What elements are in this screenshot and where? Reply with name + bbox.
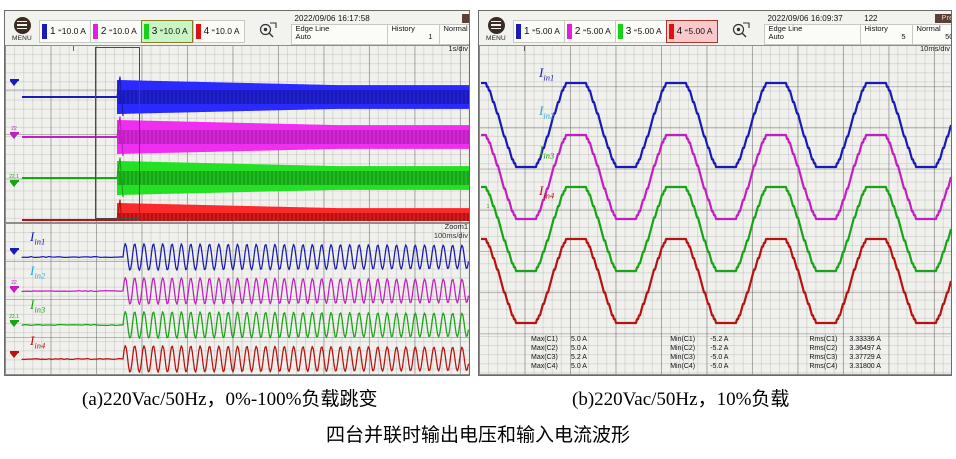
trigger-status-b[interactable]: Edge Line Auto <box>765 25 861 44</box>
datetime-a: 2022/09/06 16:17:58 <box>291 14 376 23</box>
meas-value: -5.2 A <box>710 336 728 345</box>
meas-value: 5.0 A <box>571 345 587 354</box>
channel-scale-b-2: 5.00 A <box>587 27 611 36</box>
history-label-a: History <box>392 25 433 33</box>
meas-key: Min(C4) <box>670 363 710 372</box>
channel-scale-a-3: 10.0 A <box>164 27 188 36</box>
acquire-status-b[interactable]: Normal 50MS/s <box>913 25 953 44</box>
channel-number-a-3: 3 <box>152 26 158 37</box>
trigger-mode-b: Auto <box>769 33 856 41</box>
wave-label-b-3: Iin3 <box>539 143 554 161</box>
meas-value: 3.33336 A <box>849 336 881 345</box>
wave-label-b-2: Iin2 <box>539 103 554 121</box>
hamburger-menu-icon-b <box>488 17 505 34</box>
channel-number-b-3: 3 <box>626 26 632 37</box>
meas-value: 5.2 A <box>571 354 587 363</box>
measurement-row-min-2: Min(C2) -5.2 A <box>670 345 809 354</box>
datetime-b: 2022/09/06 16:09:37 <box>764 14 849 23</box>
measurement-row-max-4: Max(C4) 5.0 A <box>531 363 670 372</box>
magnifier-zoom-icon <box>258 21 278 39</box>
channel-scale-b-3: 5.00 A <box>638 27 662 36</box>
channel-color-swatch-b4 <box>669 24 674 39</box>
channel-number-a-1: 1 <box>50 26 56 37</box>
channel-button-b-4[interactable]: 4 ≖ 5.00 A <box>666 20 718 43</box>
channel-number-a-2: 2 <box>101 26 107 37</box>
measurement-row-min-3: Min(C3) -5.0 A <box>670 354 809 363</box>
meas-key: Rms(C2) <box>809 345 849 354</box>
measurement-column-min: Min(C1) -5.2 A Min(C2) -5.2 A Min(C3) -5… <box>670 336 809 372</box>
meas-key: Max(C3) <box>531 354 571 363</box>
history-label-b: History <box>865 25 906 33</box>
channel-number-b-2: 2 <box>575 26 581 37</box>
caption-b: (b)220Vac/50Hz，10%负载 <box>572 384 789 411</box>
meas-key: Rms(C1) <box>809 336 849 345</box>
trigger-status-a[interactable]: Edge Line Auto <box>292 25 388 44</box>
wave-label-b-1: Iin1 <box>539 65 554 83</box>
plot-area-b[interactable]: T 10ms/div 1 Iin1 Iin2 Iin3 Iin4 <box>479 45 952 375</box>
channel-button-a-2[interactable]: 2 ≖ 10.0 A <box>90 20 141 43</box>
meas-key: Min(C1) <box>670 336 710 345</box>
measurement-row-min-4: Min(C4) -5.0 A <box>670 363 809 372</box>
channel-number-b-1: 1 <box>524 26 530 37</box>
frame-count-b: 122 <box>849 14 893 23</box>
channel-color-swatch-2 <box>93 24 98 39</box>
wave-label-a-4: Iin4 <box>30 333 45 351</box>
meas-value: -5.2 A <box>710 345 728 354</box>
meas-value: 5.0 A <box>571 336 587 345</box>
channel-button-a-3[interactable]: 3 ≖ 10.0 A <box>141 20 193 43</box>
measurement-row-min-1: Min(C1) -5.2 A <box>670 336 809 345</box>
caption-main: 四台并联时输出电压和输入电流波形 <box>0 420 956 447</box>
channel-color-swatch-b1 <box>516 24 521 39</box>
channel-button-b-1[interactable]: 1 ≖ 5.00 A <box>513 20 564 43</box>
channel-color-swatch-b2 <box>567 24 572 39</box>
scope-b-info-topline: 2022/09/06 16:09:37 122 Preview <box>764 12 953 24</box>
meas-value: -5.0 A <box>710 363 728 372</box>
channel-scale-a-4: 10.0 A <box>215 27 239 36</box>
channel-color-swatch-1 <box>42 24 47 39</box>
zoom-tool-button-a[interactable] <box>245 11 291 45</box>
figure-root: MENU 1 ≖ 10.0 A 2 ≖ 10.0 A 3 <box>0 0 956 459</box>
scope-b-info-block: 2022/09/06 16:09:37 122 Preview Edge Lin… <box>764 11 953 45</box>
meas-key: Max(C2) <box>531 345 571 354</box>
channel-scale-b-4: 5.00 A <box>688 27 712 36</box>
menu-label-a: MENU <box>12 35 32 42</box>
plot-area-a-zoom[interactable]: 22 22.1 Zoom1 100ms/div <box>5 223 470 375</box>
meas-key: Max(C1) <box>531 336 571 345</box>
meas-key: Rms(C4) <box>809 363 849 372</box>
scope-a-status-row: Edge Line Auto History 1 Normal 500kS/s <box>291 24 471 45</box>
meas-key: Min(C2) <box>670 345 710 354</box>
meas-value: 3.31800 A <box>849 363 881 372</box>
sample-rate-a: 500kS/s <box>444 33 471 41</box>
channel-button-a-1[interactable]: 1 ≖ 10.0 A <box>39 20 90 43</box>
menu-button-a[interactable]: MENU <box>5 11 39 45</box>
channel-scale-a-2: 10.0 A <box>113 27 137 36</box>
magnifier-zoom-icon-b <box>731 21 751 39</box>
menu-label-b: MENU <box>486 35 506 42</box>
zoom-region-box-a[interactable] <box>95 47 140 219</box>
scope-b-status-row: Edge Line Auto History 5 Normal 50MS/s <box>764 24 953 45</box>
measurement-row-rms-2: Rms(C2) 3.36497 A <box>809 345 948 354</box>
wave-label-b-4: Iin4 <box>539 183 554 201</box>
history-status-a[interactable]: History 1 <box>388 25 440 44</box>
channel-button-b-3[interactable]: 3 ≖ 5.00 A <box>615 20 666 43</box>
oscilloscope-screenshot-a: MENU 1 ≖ 10.0 A 2 ≖ 10.0 A 3 <box>4 10 470 376</box>
meas-key: Rms(C3) <box>809 354 849 363</box>
history-value-b: 5 <box>865 33 906 41</box>
meas-value: 3.37729 A <box>849 354 881 363</box>
caption-a: (a)220Vac/50Hz，0%-100%负载跳变 <box>82 384 377 411</box>
measurement-row-max-2: Max(C2) 5.0 A <box>531 345 670 354</box>
acquire-status-a[interactable]: Normal 500kS/s <box>440 25 471 44</box>
preview-badge-a: Preview <box>462 14 471 23</box>
oscilloscope-screenshot-b: MENU 1 ≖ 5.00 A 2 ≖ 5.00 A 3 <box>478 10 952 376</box>
scope-b-toolbar: MENU 1 ≖ 5.00 A 2 ≖ 5.00 A 3 <box>479 11 951 45</box>
history-value-a: 1 <box>392 33 433 41</box>
plot-area-a-main[interactable]: 22 22.1 T 1s/div <box>5 45 470 223</box>
meas-key: Max(C4) <box>531 363 571 372</box>
measurement-row-rms-3: Rms(C3) 3.37729 A <box>809 354 948 363</box>
channel-strip-a: 1 ≖ 10.0 A 2 ≖ 10.0 A 3 ≖ 10.0 A <box>39 11 245 45</box>
menu-button-b[interactable]: MENU <box>479 11 513 45</box>
channel-number-a-4: 4 <box>204 26 210 37</box>
channel-scale-a-1: 10.0 A <box>62 27 86 36</box>
wave-label-a-2: Iin2 <box>30 263 45 281</box>
channel-strip-b: 1 ≖ 5.00 A 2 ≖ 5.00 A 3 ≖ 5.00 A <box>513 11 718 45</box>
meas-value: 5.0 A <box>571 363 587 372</box>
zoom-tool-button-b[interactable] <box>718 11 764 45</box>
scope-a-info-block: 2022/09/06 16:17:58 Preview Edge Line Au… <box>291 11 471 45</box>
measurement-column-rms: Rms(C1) 3.33336 A Rms(C2) 3.36497 A Rms(… <box>809 336 948 372</box>
measurement-row-max-3: Max(C3) 5.2 A <box>531 354 670 363</box>
waveform-canvas-b <box>479 45 952 375</box>
scope-a-toolbar: MENU 1 ≖ 10.0 A 2 ≖ 10.0 A 3 <box>5 11 469 45</box>
measurement-readouts-b: Max(C1) 5.0 A Max(C2) 5.0 A Max(C3) 5.2 … <box>531 336 949 372</box>
measurement-row-rms-4: Rms(C4) 3.31800 A <box>809 363 948 372</box>
channel-button-a-4[interactable]: 4 ≖ 10.0 A <box>193 20 245 43</box>
meas-value: 3.36497 A <box>849 345 881 354</box>
hamburger-menu-icon <box>14 17 31 34</box>
acquire-mode-a: Normal <box>444 25 471 33</box>
trigger-mode-a: Auto <box>296 33 383 41</box>
channel-color-swatch-4 <box>196 24 201 39</box>
channel-color-swatch-3 <box>144 24 149 39</box>
measurement-column-max: Max(C1) 5.0 A Max(C2) 5.0 A Max(C3) 5.2 … <box>531 336 670 372</box>
channel-color-swatch-b3 <box>618 24 623 39</box>
measurement-row-rms-1: Rms(C1) 3.33336 A <box>809 336 948 345</box>
meas-key: Min(C3) <box>670 354 710 363</box>
sample-rate-b: 50MS/s <box>917 33 953 41</box>
channel-scale-b-1: 5.00 A <box>536 27 560 36</box>
preview-badge-b: Preview <box>935 14 953 23</box>
wave-label-a-1: Iin1 <box>30 229 45 247</box>
wave-label-a-3: Iin3 <box>30 297 45 315</box>
channel-number-b-4: 4 <box>677 26 683 37</box>
waveform-canvas-a-main <box>5 45 470 223</box>
meas-value: -5.0 A <box>710 354 728 363</box>
channel-button-b-2[interactable]: 2 ≖ 5.00 A <box>564 20 615 43</box>
waveform-canvas-a-zoom <box>5 223 470 375</box>
history-status-b[interactable]: History 5 <box>861 25 913 44</box>
scope-a-info-topline: 2022/09/06 16:17:58 Preview <box>291 12 471 24</box>
measurement-row-max-1: Max(C1) 5.0 A <box>531 336 670 345</box>
